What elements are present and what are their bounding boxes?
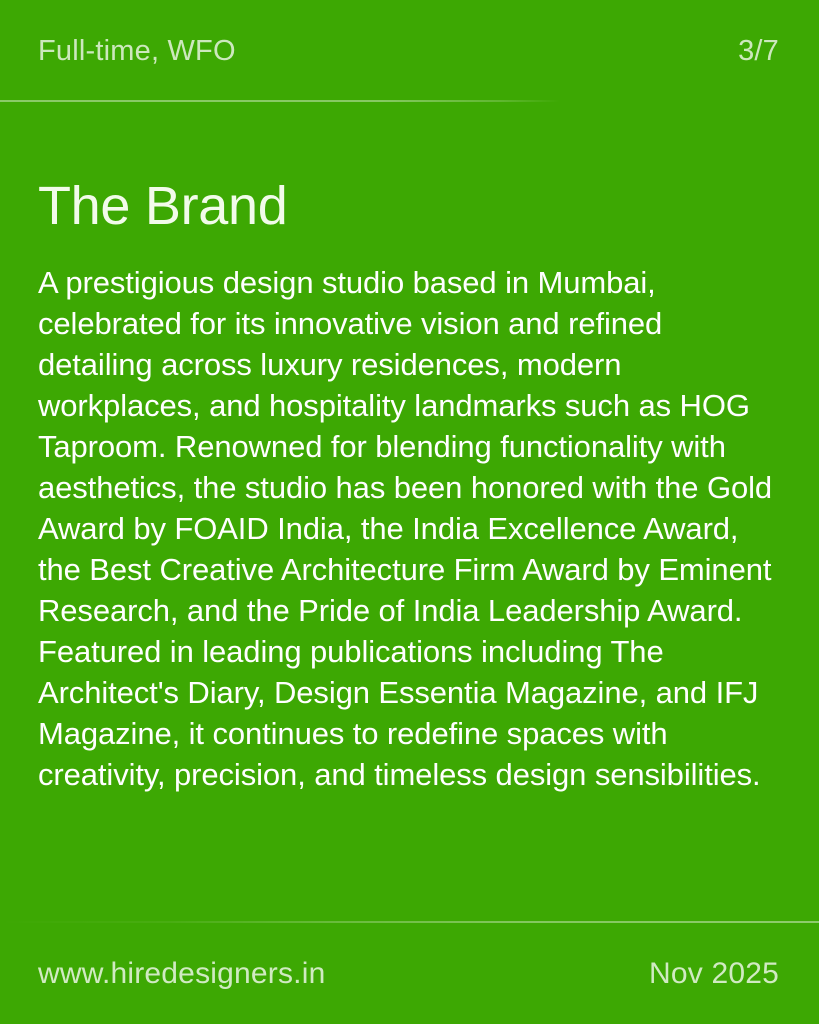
slide-header: Full-time, WFO 3/7 <box>0 0 819 101</box>
page-title: The Brand <box>38 101 786 235</box>
page-indicator: 3/7 <box>738 34 779 68</box>
footer-date-label: Nov 2025 <box>649 956 779 991</box>
slide-footer: www.hiredesigners.in Nov 2025 <box>0 922 819 1024</box>
slide-main-content: The Brand A prestigious design studio ba… <box>38 101 786 795</box>
header-job-type-label: Full-time, WFO <box>38 34 236 68</box>
slide-card: Full-time, WFO 3/7 The Brand A prestigio… <box>0 0 819 1024</box>
body-paragraph: A prestigious design studio based in Mum… <box>38 235 783 795</box>
footer-website-link[interactable]: www.hiredesigners.in <box>38 956 325 991</box>
